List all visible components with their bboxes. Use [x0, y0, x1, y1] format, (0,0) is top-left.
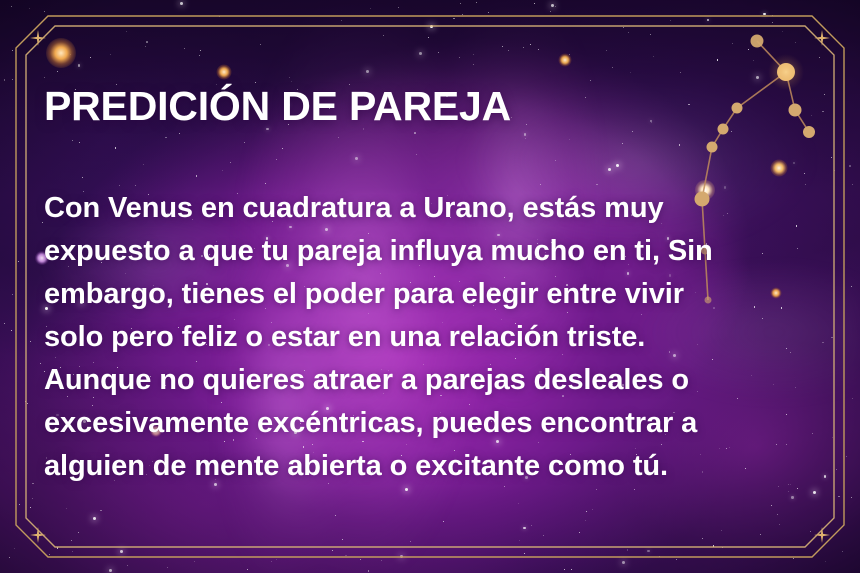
star — [713, 545, 715, 547]
star — [78, 532, 79, 533]
star — [523, 527, 525, 529]
star — [851, 286, 852, 287]
star — [502, 46, 503, 47]
star — [523, 47, 524, 48]
star — [717, 59, 719, 61]
star — [57, 547, 59, 549]
star — [518, 503, 519, 504]
star — [530, 44, 532, 46]
star — [410, 541, 411, 542]
bright-star — [622, 561, 625, 564]
star — [345, 555, 347, 557]
star — [27, 403, 28, 404]
star — [586, 511, 587, 512]
star — [659, 556, 660, 557]
card-content: PREDICIÓN DE PAREJA Con Venus en cuadrat… — [44, 86, 816, 488]
star — [564, 569, 565, 570]
star — [289, 77, 290, 78]
star — [783, 69, 784, 70]
star — [590, 80, 591, 81]
star — [531, 525, 532, 526]
star — [763, 13, 765, 15]
star — [473, 54, 474, 55]
star — [443, 521, 444, 522]
star — [167, 567, 168, 568]
star — [11, 330, 13, 332]
star — [771, 505, 772, 506]
star — [42, 222, 43, 223]
star — [630, 72, 631, 73]
star — [851, 497, 852, 498]
star — [335, 515, 336, 516]
star — [519, 540, 520, 541]
star — [12, 294, 13, 295]
star — [653, 56, 654, 57]
glow-star — [46, 38, 76, 68]
star — [670, 20, 671, 21]
star — [592, 509, 593, 510]
sparkle-icon — [30, 527, 46, 543]
star — [538, 49, 539, 50]
sparkle-icon — [814, 30, 830, 46]
star — [368, 570, 370, 572]
star — [462, 14, 463, 15]
star — [110, 54, 111, 55]
star — [383, 35, 385, 37]
star — [596, 489, 597, 490]
star — [194, 561, 195, 562]
star — [44, 77, 45, 78]
star — [543, 535, 544, 536]
bright-star — [109, 569, 112, 572]
bright-star — [120, 550, 123, 553]
star — [585, 520, 586, 521]
star — [90, 57, 91, 58]
star — [628, 32, 629, 33]
star — [832, 437, 833, 438]
star — [623, 27, 624, 28]
star — [680, 72, 682, 74]
star — [534, 3, 535, 4]
star — [836, 469, 837, 470]
star — [29, 8, 30, 9]
star — [18, 261, 19, 262]
star — [571, 569, 572, 570]
star — [146, 41, 148, 43]
bright-star — [813, 491, 816, 494]
star — [760, 534, 761, 535]
star — [438, 52, 439, 53]
prediction-line: embargo, tienes el poder para elegir ent… — [44, 273, 816, 316]
star — [184, 48, 185, 49]
star — [30, 341, 31, 342]
star — [145, 46, 146, 47]
star — [9, 557, 10, 558]
prediction-line: Con Venus en cuadratura a Urano, estás m… — [44, 187, 816, 230]
glow-star — [559, 54, 572, 67]
star — [44, 11, 45, 12]
star — [579, 532, 580, 533]
star — [831, 157, 832, 158]
prediction-line: expuesto a que tu pareja influya mucho e… — [44, 230, 816, 273]
star — [650, 34, 651, 35]
star — [852, 398, 853, 399]
star — [772, 15, 773, 16]
star — [488, 12, 489, 13]
star — [276, 559, 278, 561]
star — [473, 64, 474, 65]
star — [779, 524, 780, 525]
star — [19, 504, 20, 505]
star — [25, 401, 26, 402]
star — [49, 554, 50, 555]
star — [793, 558, 794, 559]
star — [791, 496, 793, 498]
star — [57, 71, 58, 72]
prediction-line: Aunque no quieres atraer a parejas desle… — [44, 359, 816, 402]
bright-star — [366, 70, 369, 73]
star — [842, 551, 843, 552]
star — [508, 50, 509, 51]
star — [838, 496, 840, 498]
star — [819, 57, 820, 58]
star — [822, 342, 824, 344]
star — [825, 561, 826, 562]
page-title: PREDICIÓN DE PAREJA — [44, 86, 816, 127]
star — [72, 551, 73, 552]
star — [200, 50, 201, 51]
star — [30, 507, 31, 508]
star — [834, 170, 836, 172]
star — [14, 548, 15, 549]
star — [12, 50, 13, 51]
bright-star — [551, 4, 554, 7]
star — [831, 337, 833, 339]
sparkle-icon — [814, 527, 830, 543]
star — [12, 79, 14, 81]
star — [627, 549, 629, 551]
star — [360, 559, 361, 560]
bright-star — [756, 76, 759, 79]
star — [702, 538, 703, 539]
star — [271, 561, 272, 562]
star — [824, 94, 826, 96]
star — [676, 559, 677, 560]
star — [846, 456, 847, 457]
bright-star — [400, 555, 403, 558]
star — [219, 16, 220, 17]
star — [332, 550, 333, 551]
star — [550, 11, 551, 12]
prediction-line: excesivamente excéntricas, puedes encont… — [44, 402, 816, 445]
star — [476, 2, 477, 3]
star — [647, 550, 649, 552]
star — [370, 8, 371, 9]
star — [199, 55, 200, 56]
star — [32, 483, 34, 485]
bright-star — [180, 2, 183, 5]
horoscope-card: PREDICIÓN DE PAREJA Con Venus en cuadrat… — [0, 0, 860, 573]
star — [127, 565, 129, 567]
star — [772, 22, 773, 23]
star — [78, 64, 80, 66]
star — [722, 547, 723, 548]
star — [66, 508, 67, 509]
star — [634, 489, 635, 490]
bright-star — [430, 25, 433, 28]
star — [460, 3, 461, 4]
star — [11, 6, 12, 7]
star — [428, 37, 429, 38]
star — [32, 498, 33, 499]
star — [342, 539, 343, 540]
star — [398, 7, 399, 8]
bright-star — [419, 52, 422, 55]
star — [4, 323, 5, 324]
bright-star — [93, 517, 96, 520]
star — [797, 488, 798, 489]
star — [459, 57, 460, 58]
star — [126, 31, 127, 32]
star — [732, 43, 733, 44]
star — [71, 540, 72, 541]
star — [707, 19, 709, 21]
star — [612, 67, 613, 68]
star — [795, 42, 796, 43]
star — [824, 475, 826, 477]
star — [247, 569, 248, 570]
star — [849, 165, 851, 167]
star — [753, 60, 754, 61]
star — [748, 49, 749, 50]
star — [810, 531, 811, 532]
star — [822, 111, 824, 113]
star — [100, 510, 102, 512]
prediction-body: Con Venus en cuadratura a Urano, estás m… — [44, 187, 816, 488]
prediction-line: solo pero feliz o estar en una relación … — [44, 316, 816, 359]
star — [40, 363, 41, 364]
prediction-line: alguien de mente abierta o excitante com… — [44, 445, 816, 488]
star — [341, 20, 342, 21]
star — [4, 79, 6, 81]
star — [852, 184, 853, 185]
star — [606, 50, 607, 51]
star — [555, 6, 556, 7]
sparkle-icon — [30, 30, 46, 46]
star — [721, 530, 722, 531]
glow-star — [217, 65, 232, 80]
star — [524, 553, 525, 554]
star — [260, 44, 261, 45]
star — [782, 31, 783, 32]
star — [453, 18, 455, 20]
star — [788, 491, 789, 492]
star — [381, 560, 382, 561]
star — [777, 514, 778, 515]
